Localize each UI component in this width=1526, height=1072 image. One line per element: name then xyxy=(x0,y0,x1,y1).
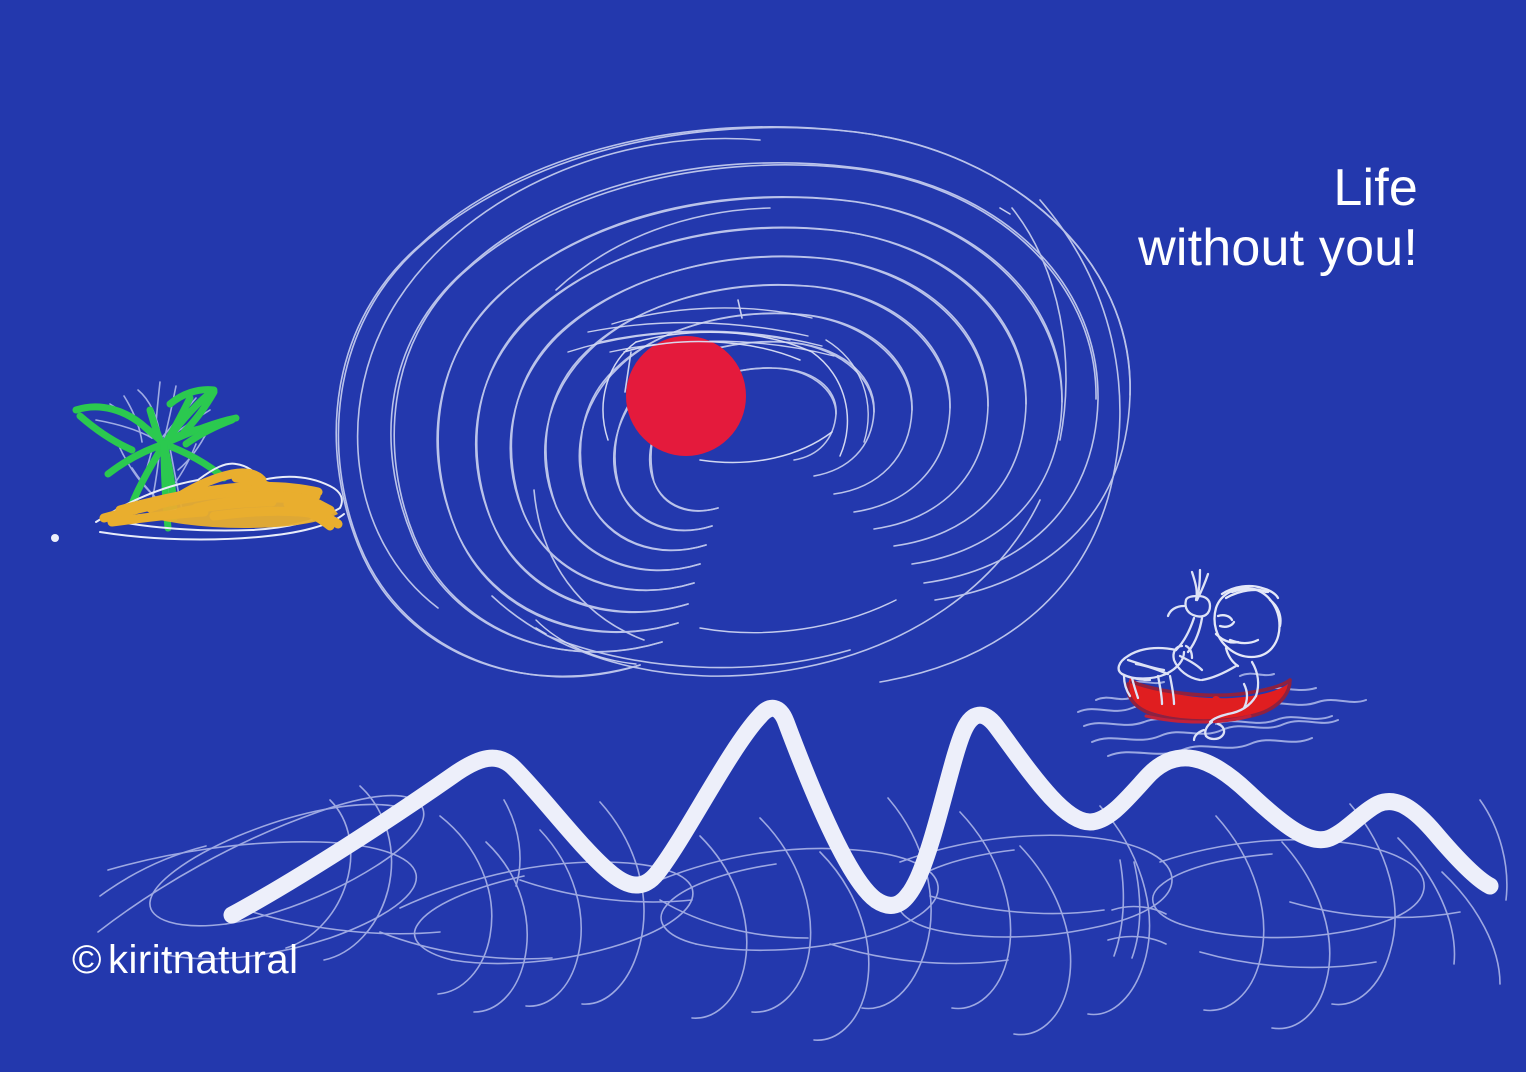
copyright-icon: © xyxy=(72,938,102,982)
title-line-1: Life xyxy=(1138,158,1418,218)
credit-name: kiritnatural xyxy=(108,938,299,982)
credit-watermark: ©kiritnatural xyxy=(72,940,299,980)
title-line-2: without you! xyxy=(1138,218,1418,278)
wave-icon xyxy=(232,708,1490,915)
page-title: Life without you! xyxy=(1138,158,1418,279)
artwork-canvas: Life without you! ©kiritnatural xyxy=(0,0,1526,1072)
